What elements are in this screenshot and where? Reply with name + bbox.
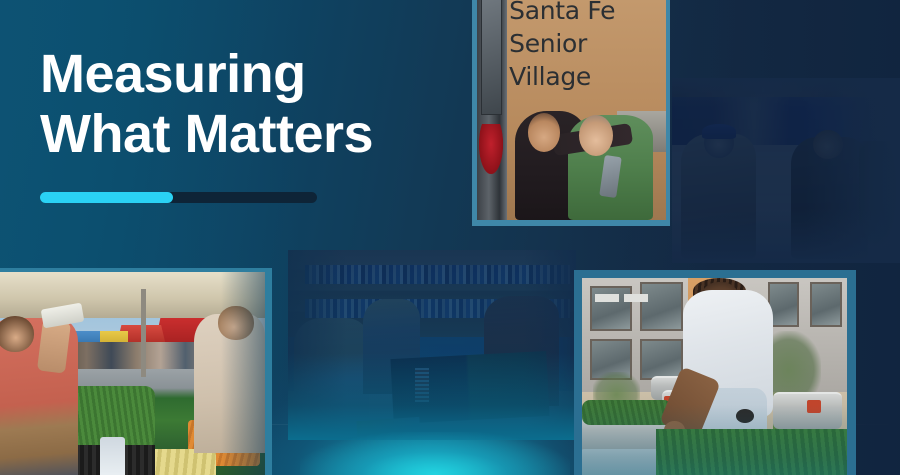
red-ribbon-bow — [479, 124, 504, 174]
senior-village-sign-text: Santa Fe Senior Village — [509, 0, 662, 93]
community-garden-photo-content: LINE — [582, 278, 847, 475]
farmers-market-photo-content — [0, 272, 265, 475]
library-bottom-glow-fade — [288, 353, 576, 440]
market-vendor-arm — [37, 319, 70, 373]
senior-village-gate-glass — [481, 0, 502, 115]
senior-village-head-right — [579, 115, 613, 156]
market-tent-pole — [141, 289, 145, 378]
page-title: Measuring What Matters — [40, 44, 440, 165]
measuring-what-matters-banner: Santa Fe Senior Village — [0, 0, 900, 475]
accent-progress-track — [40, 192, 317, 203]
community-garden-photo: LINE — [574, 270, 856, 475]
outreach-bottom-fade — [672, 208, 900, 264]
headline-block: Measuring What Matters — [40, 44, 440, 165]
outreach-photo-content — [672, 78, 900, 263]
accent-progress-fill — [40, 192, 173, 203]
senior-village-head-left — [528, 113, 560, 152]
library-photo-content — [288, 250, 576, 440]
farmers-market-photo — [0, 268, 272, 475]
garden-bottom-shade — [582, 278, 847, 475]
market-spray-bottle — [100, 437, 125, 475]
santa-fe-senior-village-photo: Santa Fe Senior Village — [472, 0, 670, 226]
library-reading-photo — [288, 250, 576, 440]
senior-village-photo-content: Santa Fe Senior Village — [477, 0, 666, 220]
outreach-conversation-photo — [672, 78, 900, 263]
market-right-fade — [221, 272, 265, 475]
